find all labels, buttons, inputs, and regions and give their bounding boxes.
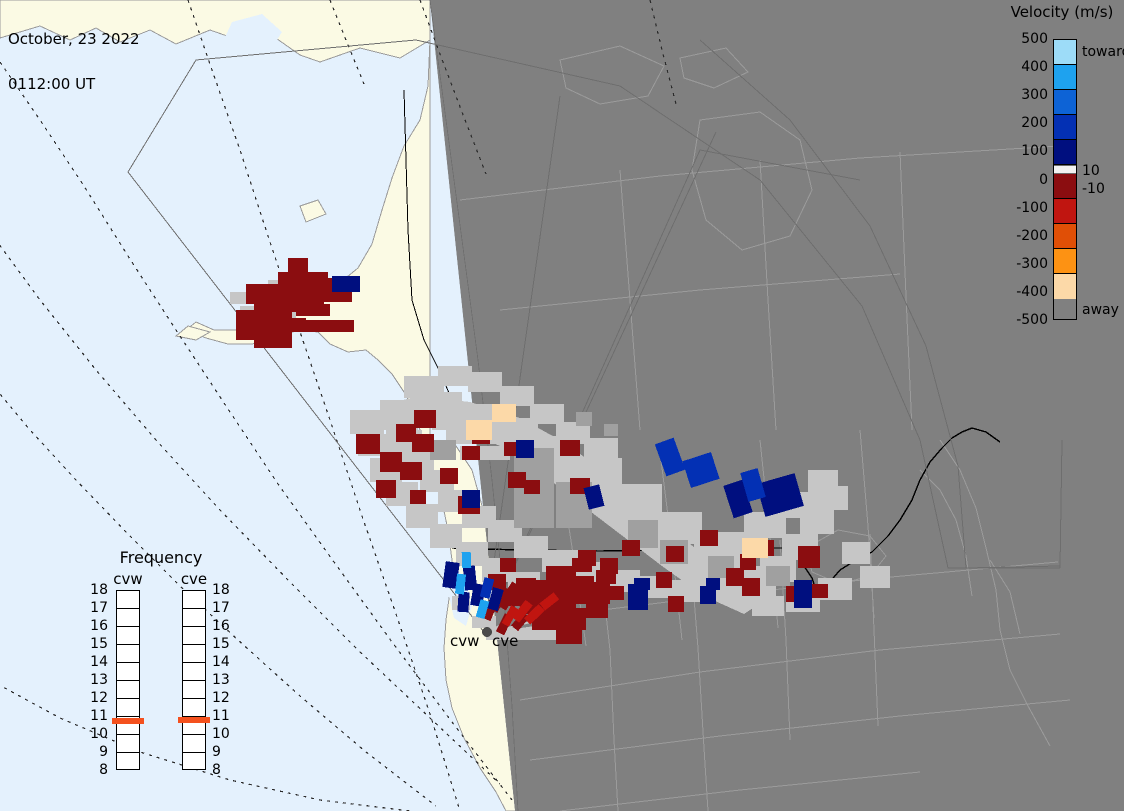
frequency-scale-label-cvw-8: 8 bbox=[86, 763, 108, 777]
colorbar-segment-away-4 bbox=[1054, 274, 1076, 299]
frequency-scale-label-cve-15: 15 bbox=[212, 637, 230, 651]
frequency-bar-cve bbox=[182, 590, 206, 770]
colorbar-label-pos-threshold: 10 bbox=[1082, 164, 1100, 178]
frequency-bar-segment bbox=[183, 663, 205, 681]
frequency-bar-segment bbox=[117, 753, 139, 771]
station-label-cvw: cvw bbox=[450, 632, 479, 650]
frequency-bar-segment bbox=[183, 591, 205, 609]
frequency-scale-label-cve-16: 16 bbox=[212, 619, 230, 633]
frequency-legend: Frequency cvw18171615141312111098cve1817… bbox=[86, 548, 236, 786]
colorbar-zero-band bbox=[1054, 165, 1076, 174]
frequency-scale-label-cvw-12: 12 bbox=[86, 691, 108, 705]
colorbar-tick-500: 500 bbox=[1021, 32, 1048, 46]
frequency-scale-label-cvw-13: 13 bbox=[86, 673, 108, 687]
frequency-bar-segment bbox=[117, 645, 139, 663]
colorbar-gradient bbox=[1053, 39, 1077, 320]
frequency-scale-label-cve-12: 12 bbox=[212, 691, 230, 705]
frequency-scale-label-cvw-18: 18 bbox=[86, 583, 108, 597]
colorbar-label-toward: toward bbox=[1082, 45, 1124, 59]
frequency-scale-label-cve-13: 13 bbox=[212, 673, 230, 687]
frequency-bar-segment bbox=[183, 645, 205, 663]
frequency-bar-segment bbox=[117, 609, 139, 627]
frequency-bar-segment bbox=[183, 627, 205, 645]
frequency-bar-segment bbox=[117, 681, 139, 699]
colorbar-segment-away-0 bbox=[1054, 174, 1076, 199]
frequency-bar-segment bbox=[117, 627, 139, 645]
frequency-scale-label-cvw-11: 11 bbox=[86, 709, 108, 723]
colorbar-tick-100: 100 bbox=[1021, 144, 1048, 158]
colorbar-title: Velocity (m/s) bbox=[1000, 3, 1124, 21]
station-label-cve: cve bbox=[492, 632, 518, 650]
frequency-scale-label-cvw-17: 17 bbox=[86, 601, 108, 615]
colorbar-tick-400: 400 bbox=[1021, 60, 1048, 74]
colorbar-segment-toward-4 bbox=[1054, 140, 1076, 165]
frequency-bar-segment bbox=[117, 735, 139, 753]
frequency-bar-segment bbox=[183, 753, 205, 771]
frequency-scale-label-cvw-15: 15 bbox=[86, 637, 108, 651]
frequency-bar-segment bbox=[117, 699, 139, 717]
frequency-bar-segment bbox=[183, 609, 205, 627]
frequency-scale-label-cve-10: 10 bbox=[212, 727, 230, 741]
frequency-bar-cvw bbox=[116, 590, 140, 770]
colorbar-segment-toward-3 bbox=[1054, 115, 1076, 140]
colorbar-segment-toward-2 bbox=[1054, 90, 1076, 115]
velocity-colorbar: Velocity (m/s) 5004003002001000-100-200-… bbox=[1006, 0, 1124, 330]
frequency-scale-label-cvw-14: 14 bbox=[86, 655, 108, 669]
title-time: 0112:00 UT bbox=[8, 77, 140, 92]
frequency-marker-cve bbox=[178, 717, 210, 723]
colorbar-tick-200: 200 bbox=[1021, 116, 1048, 130]
timestamp-title: October, 23 2022 0112:00 UT bbox=[8, 2, 140, 122]
frequency-scale-label-cvw-9: 9 bbox=[86, 745, 108, 759]
colorbar-tick-neg200: -200 bbox=[1016, 229, 1048, 243]
colorbar-segment-toward-1 bbox=[1054, 65, 1076, 90]
frequency-title: Frequency bbox=[86, 548, 236, 567]
colorbar-segment-away-2 bbox=[1054, 224, 1076, 249]
frequency-bar-segment bbox=[183, 735, 205, 753]
frequency-bar-segment bbox=[183, 681, 205, 699]
radar-velocity-map: October, 23 2022 0112:00 UT cvw cve Velo… bbox=[0, 0, 1124, 811]
colorbar-tick-300: 300 bbox=[1021, 88, 1048, 102]
frequency-scale-label-cve-11: 11 bbox=[212, 709, 230, 723]
frequency-scale-label-cvw-16: 16 bbox=[86, 619, 108, 633]
frequency-radar-name-cvw: cvw bbox=[105, 570, 151, 588]
frequency-scale-label-cve-8: 8 bbox=[212, 763, 221, 777]
frequency-radar-name-cve: cve bbox=[171, 570, 217, 588]
frequency-scale-label-cve-14: 14 bbox=[212, 655, 230, 669]
frequency-scale-label-cve-18: 18 bbox=[212, 583, 230, 597]
frequency-scale-label-cve-17: 17 bbox=[212, 601, 230, 615]
station-marker-dot bbox=[482, 627, 492, 637]
frequency-scale-label-cvw-10: 10 bbox=[86, 727, 108, 741]
colorbar-tick-neg300: -300 bbox=[1016, 257, 1048, 271]
colorbar-segment-toward-0 bbox=[1054, 40, 1076, 65]
frequency-bar-segment bbox=[183, 699, 205, 717]
title-date: October, 23 2022 bbox=[8, 32, 140, 47]
colorbar-segment-away-1 bbox=[1054, 199, 1076, 224]
frequency-bar-segment bbox=[117, 663, 139, 681]
colorbar-segment-away-3 bbox=[1054, 249, 1076, 274]
colorbar-tick-0: 0 bbox=[1039, 173, 1048, 187]
frequency-bar-segment bbox=[117, 591, 139, 609]
frequency-scale-label-cve-9: 9 bbox=[212, 745, 221, 759]
colorbar-label-away: away bbox=[1082, 303, 1119, 317]
colorbar-tick-neg500: -500 bbox=[1016, 313, 1048, 327]
colorbar-tick-neg400: -400 bbox=[1016, 285, 1048, 299]
colorbar-tick-neg100: -100 bbox=[1016, 201, 1048, 215]
frequency-marker-cvw bbox=[112, 718, 144, 724]
colorbar-label-neg-threshold: -10 bbox=[1082, 182, 1105, 196]
